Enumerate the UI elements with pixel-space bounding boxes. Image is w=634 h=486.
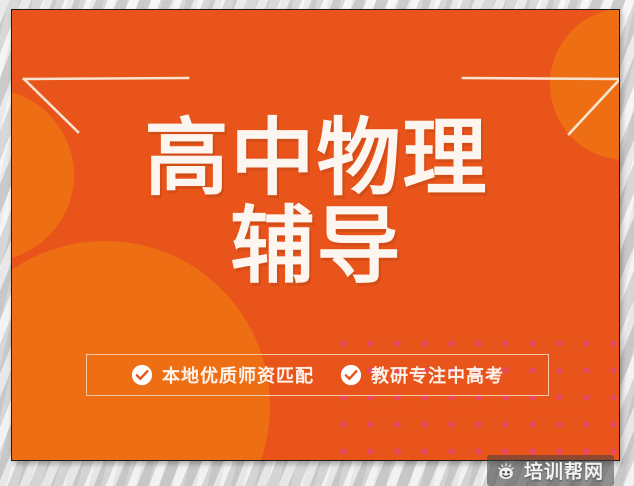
feature-badge-label-1: 教研专注中高考	[371, 362, 504, 388]
feature-badge-bar: 本地优质师资匹配 教研专注中高考	[86, 354, 549, 396]
banner-headline: 高中物理 辅导	[12, 117, 620, 288]
feature-badge-label-0: 本地优质师资匹配	[162, 362, 314, 388]
sun-face-icon	[495, 460, 517, 482]
site-watermark: 培训帮网	[487, 455, 614, 486]
page-backdrop: 高中物理 辅导 本地优质师资匹配 教研专注中高考	[0, 0, 634, 486]
headline-line-1: 高中物理	[12, 117, 620, 199]
feature-badge-1: 教研专注中高考	[340, 362, 504, 388]
check-circle-icon	[340, 364, 362, 386]
check-circle-icon	[131, 364, 153, 386]
watermark-label: 培训帮网	[524, 457, 604, 484]
course-banner: 高中物理 辅导 本地优质师资匹配 教研专注中高考	[11, 9, 620, 461]
feature-badge-0: 本地优质师资匹配	[131, 362, 314, 388]
headline-line-2: 辅导	[12, 205, 620, 287]
